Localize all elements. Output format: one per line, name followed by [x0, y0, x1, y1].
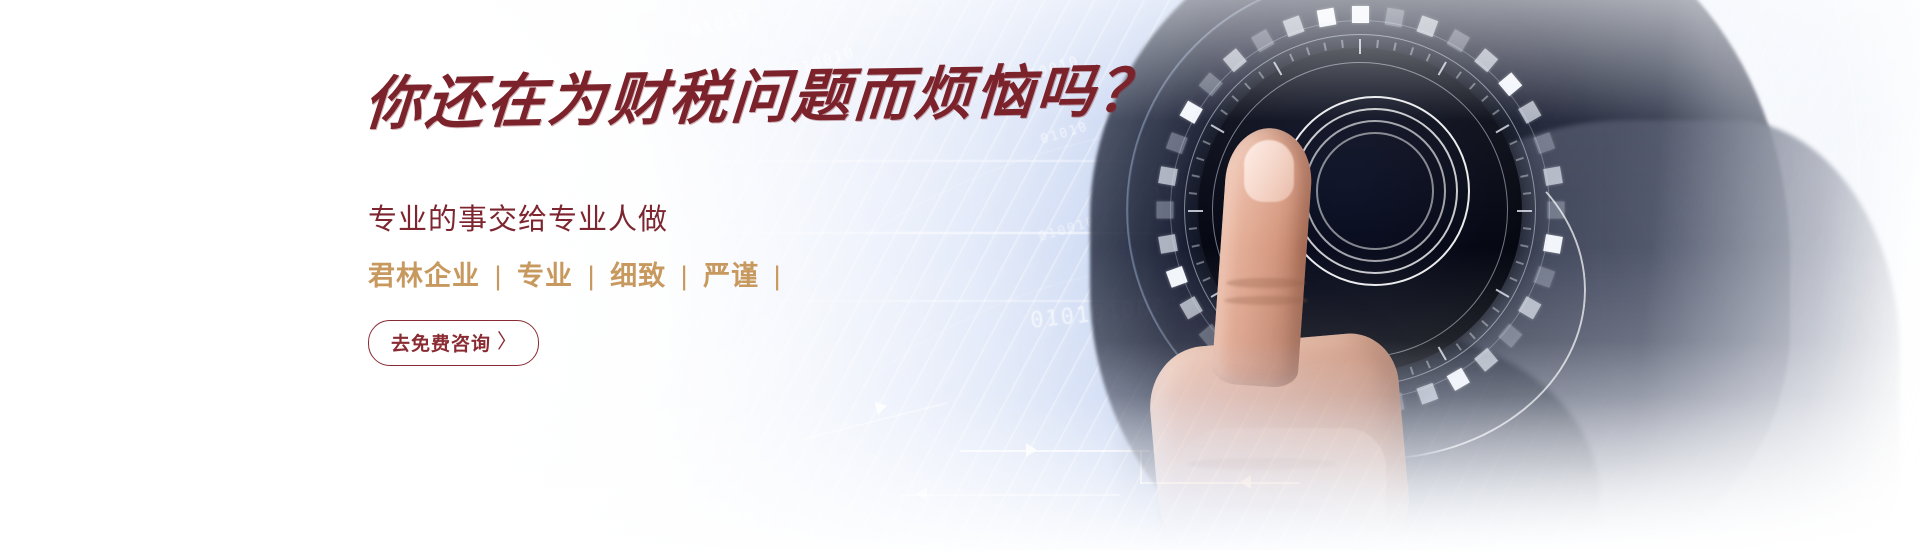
page-title: 你还在为财税问题而烦恼吗？: [362, 59, 1161, 137]
brand-name: 君林企业: [368, 261, 480, 291]
keyword-separator: |: [582, 261, 602, 291]
free-consultation-label: 去免费咨询: [391, 329, 491, 356]
free-consultation-button[interactable]: 去免费咨询 〉: [368, 320, 539, 366]
hero-banner: 01010 010010 010010 01010 10101010101010…: [0, 0, 1920, 550]
hero-content: 你还在为财税问题而烦恼吗？ 专业的事交给专业人做 君林企业 | 专业 | 细致 …: [365, 0, 1065, 550]
keyword-3: 严谨: [703, 261, 759, 291]
hero-subheading: 专业的事交给专业人做: [368, 196, 668, 238]
keyword-separator: |: [489, 261, 509, 291]
keyword-separator: |: [768, 261, 788, 291]
keyword-1: 专业: [517, 261, 573, 291]
hero-keyword-list: 君林企业 | 专业 | 细致 | 严谨 |: [368, 254, 788, 293]
chevron-right-icon: 〉: [497, 332, 518, 352]
keyword-2: 细致: [610, 261, 666, 291]
keyword-separator: |: [675, 261, 695, 291]
